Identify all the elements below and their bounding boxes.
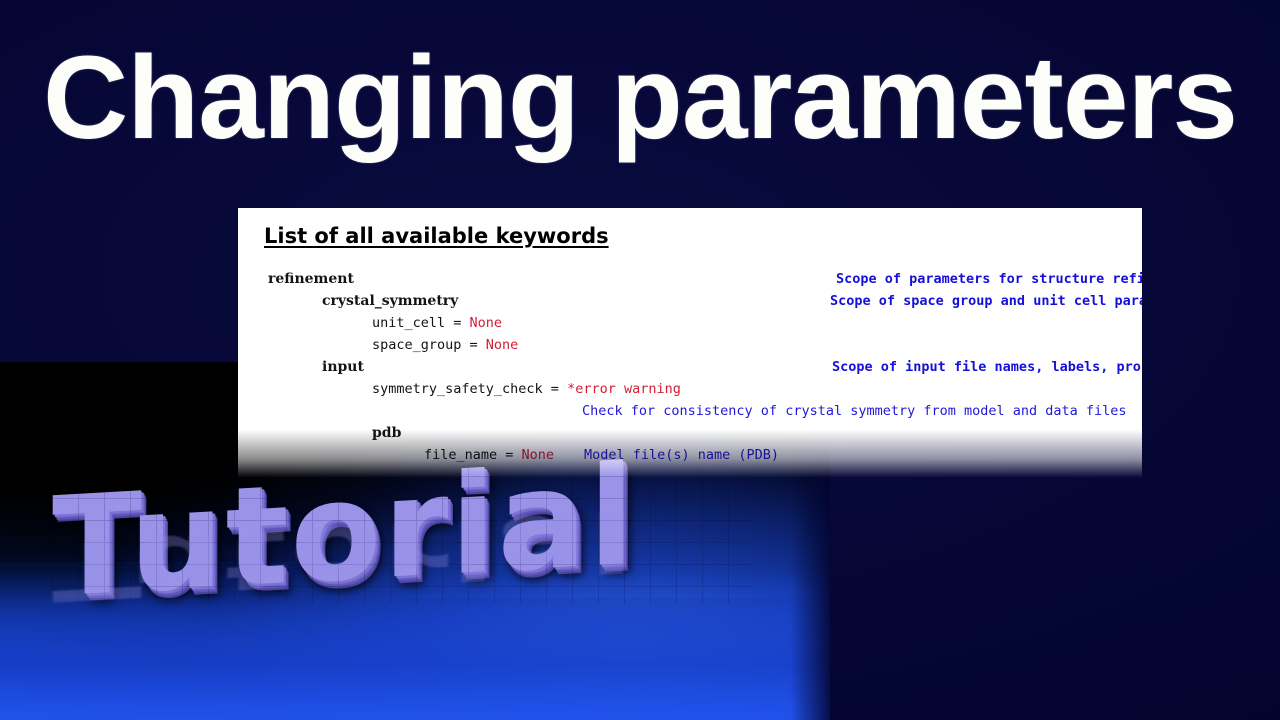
keyword-row: space_group = None	[238, 334, 1142, 356]
keyword-row: pdb	[238, 422, 1142, 444]
keyword-row: inputScope of input file names, labels, …	[238, 356, 1142, 378]
tutorial-reflection-fade	[0, 598, 830, 720]
keyword-row: symmetry_safety_check = *error warning	[238, 378, 1142, 400]
keyword-value: None	[486, 337, 519, 353]
keyword-scope-name: pdb	[372, 422, 401, 444]
keyword-param-name: symmetry_safety_check = *error warning	[372, 378, 681, 400]
keyword-description: Scope of input file names, labels, proce…	[832, 356, 1280, 378]
keyword-row: unit_cell = None	[238, 312, 1142, 334]
keyword-scope-name: input	[322, 356, 364, 378]
keyword-row: Check for consistency of crystal symmetr…	[238, 400, 1142, 422]
keyword-row: file_name = NoneModel file(s) name (PDB)	[238, 444, 1142, 466]
keyword-description: Check for consistency of crystal symmetr…	[582, 400, 1127, 422]
keyword-value: *error warning	[567, 381, 681, 397]
keyword-value: None	[522, 447, 555, 463]
keyword-row-list: refinementScope of parameters for struct…	[238, 268, 1142, 466]
keyword-scope-name: refinement	[268, 268, 354, 290]
card-heading: List of all available keywords	[264, 224, 609, 248]
page-title: Changing parameters	[0, 28, 1280, 168]
keyword-row: refinementScope of parameters for struct…	[238, 268, 1142, 290]
keywords-card: List of all available keywords refinemen…	[238, 208, 1142, 478]
keyword-description: Model file(s) name (PDB)	[584, 444, 779, 466]
keyword-scope-name: crystal_symmetry	[322, 290, 458, 312]
keyword-param-name: space_group = None	[372, 334, 518, 356]
slide-canvas: Changing parameters Tutorial Tutorial Li…	[0, 0, 1280, 720]
keyword-description: Scope of space group and unit cell param…	[830, 290, 1196, 312]
keyword-row: crystal_symmetryScope of space group and…	[238, 290, 1142, 312]
keyword-description: Scope of parameters for structure refine…	[836, 268, 1280, 290]
keyword-value: None	[470, 315, 503, 331]
keyword-param-name: unit_cell = None	[372, 312, 502, 334]
keyword-param-name: file_name = None	[424, 444, 554, 466]
